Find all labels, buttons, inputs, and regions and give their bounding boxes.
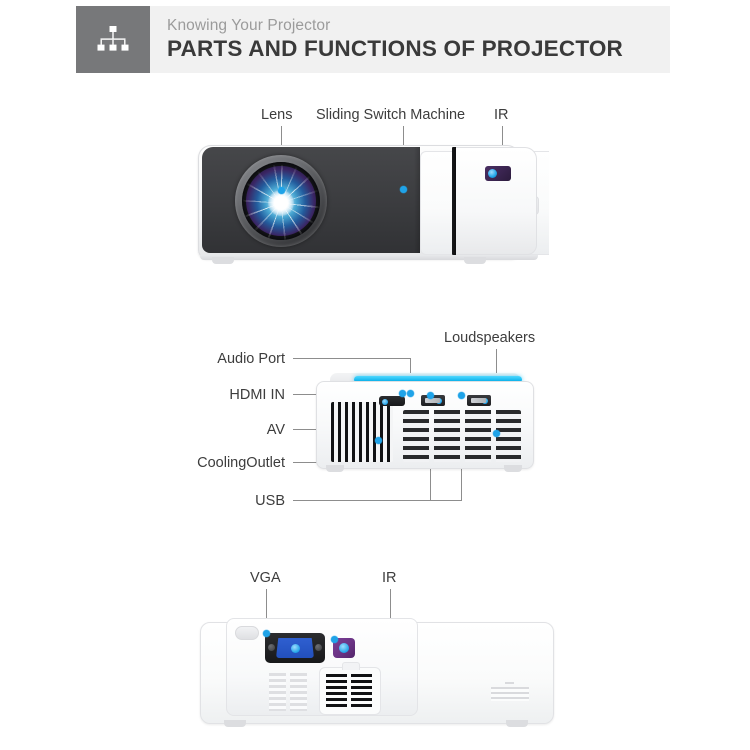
hotspot-av [399, 390, 406, 397]
projector-front-illustration [198, 143, 550, 268]
side-rear-vent [491, 687, 529, 701]
label-audio-port: Audio Port [100, 352, 285, 367]
foot-left [212, 257, 234, 264]
hotspot-ir-side [331, 636, 338, 643]
header-subtitle: Knowing Your Projector [167, 18, 670, 34]
projector-front-right-shell [456, 147, 537, 255]
projector-side-port-panel [226, 618, 418, 716]
projector-rear-illustration [316, 373, 532, 475]
foot-right [464, 257, 486, 264]
hdmi-in-port [379, 396, 405, 406]
hotspot-lens [278, 187, 285, 194]
dust-filter-cover [319, 667, 381, 715]
hotspot-loudspeakers [493, 430, 500, 437]
vga-dsub-connector [276, 638, 314, 658]
rear-foot-right [504, 465, 522, 472]
usb-port-2 [467, 395, 491, 406]
label-sliding-switch-machine: Sliding Switch Machine [316, 108, 465, 123]
lens-outer-ring [235, 155, 327, 247]
hotspot-cooling-outlet [375, 437, 382, 444]
projector-front-lens-housing [202, 147, 420, 253]
cooling-outlet-vent [331, 402, 393, 462]
loudspeaker-grille [403, 410, 521, 462]
side-knob [235, 626, 259, 640]
side-foot-right [506, 720, 528, 727]
ir-bulb-front [488, 169, 497, 178]
vga-port [265, 633, 325, 663]
hotspot-audio-port [407, 390, 414, 397]
vga-screw-right [315, 644, 322, 651]
projector-side-illustration [200, 608, 552, 728]
hotspot-sliding-switch-machine [400, 186, 407, 193]
filter-slits [326, 674, 374, 708]
rear-foot-left [326, 465, 344, 472]
leader-audio-port-h [293, 358, 411, 359]
hotspot-vga [263, 630, 270, 637]
lens-inner-ring [242, 162, 320, 240]
filter-tab [342, 662, 360, 670]
label-cooling-outlet: CoolingOutlet [100, 456, 285, 471]
ir-receiver-front [485, 166, 511, 181]
vga-screw-left [268, 644, 275, 651]
usb-port-1-led [436, 398, 442, 404]
side-intake-grille [269, 673, 309, 711]
label-ir-side: IR [382, 571, 397, 586]
usb-port-2-led [482, 398, 488, 404]
label-usb: USB [100, 494, 285, 509]
hotspot-usb-1 [427, 392, 434, 399]
label-av: AV [100, 423, 285, 438]
hotspot-usb-2 [458, 392, 465, 399]
projector-front-base [200, 255, 538, 260]
label-ir-front: IR [494, 108, 509, 123]
label-vga: VGA [250, 571, 281, 586]
side-foot-left [224, 720, 246, 727]
hierarchy-icon [76, 6, 150, 73]
label-loudspeakers: Loudspeakers [444, 331, 535, 346]
page-header: Knowing Your Projector PARTS AND FUNCTIO… [76, 6, 670, 73]
label-hdmi-in: HDMI IN [100, 388, 285, 403]
leader-usb-h [293, 500, 462, 501]
label-lens: Lens [261, 108, 292, 123]
header-text-block: Knowing Your Projector PARTS AND FUNCTIO… [150, 6, 670, 73]
page-root: Knowing Your Projector PARTS AND FUNCTIO… [0, 0, 750, 750]
projector-rear-body [316, 381, 534, 469]
page-title: PARTS AND FUNCTIONS OF PROJECTOR [167, 37, 670, 61]
